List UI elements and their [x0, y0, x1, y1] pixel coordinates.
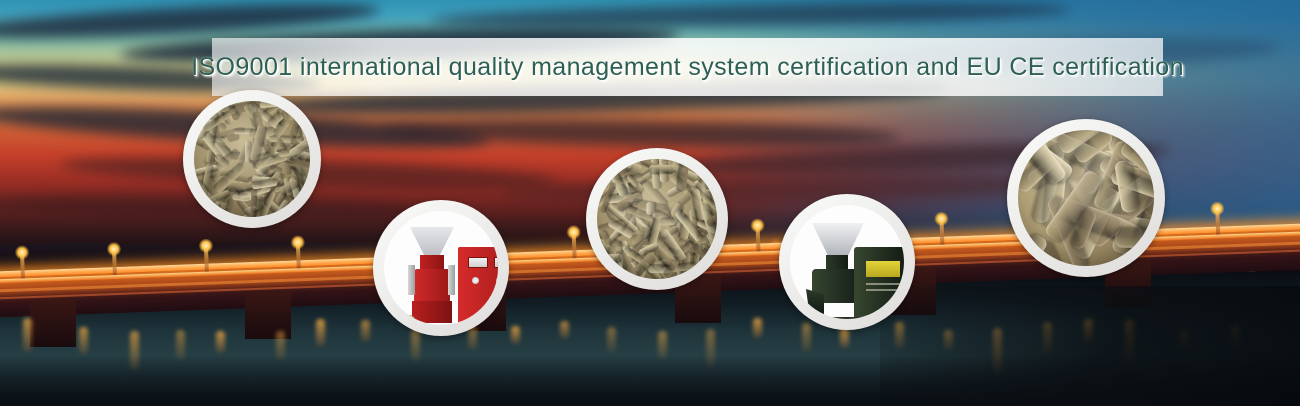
vent-slot	[866, 283, 900, 285]
light-reflection	[607, 327, 616, 352]
bridge-lamp-icon	[572, 232, 577, 258]
warning-label	[866, 261, 900, 277]
machine-leg	[408, 265, 415, 295]
light-reflection	[361, 320, 370, 342]
red-pellet-mill-photo	[384, 211, 498, 325]
bubble-photo	[1018, 130, 1154, 266]
machine-base	[412, 301, 452, 323]
light-reflection	[511, 326, 520, 344]
green-pellet-mill-photo	[790, 205, 904, 319]
machine-leg	[448, 265, 455, 295]
light-reflection	[753, 318, 762, 338]
light-reflection	[23, 318, 32, 352]
bridge-lamp-icon	[112, 249, 117, 275]
control-knob	[472, 277, 479, 284]
bridge-lamp-icon	[20, 252, 25, 278]
light-reflection	[802, 323, 811, 352]
hopper-funnel	[410, 227, 454, 257]
bridge-lamp-icon	[939, 219, 944, 245]
bubble-photo	[597, 159, 717, 279]
bubble-green-pellet-mill[interactable]	[779, 194, 915, 330]
bubble-wood-pellets-right[interactable]	[1007, 119, 1165, 277]
bridge-pier	[30, 299, 76, 347]
pellet-vignette	[1018, 130, 1154, 266]
bubble-red-pellet-mill[interactable]	[373, 200, 509, 336]
scale-reference-coin	[402, 315, 416, 325]
bubble-wood-pellets-left[interactable]	[183, 90, 321, 228]
bridge-lamp-icon	[1215, 209, 1220, 235]
headline-band: ISO9001 international quality management…	[212, 38, 1163, 96]
pellet-vignette	[194, 101, 310, 217]
control-knob	[496, 277, 498, 284]
control-display	[494, 257, 498, 268]
wood-pellet	[598, 159, 623, 166]
light-reflection	[216, 331, 225, 353]
light-reflection	[79, 327, 88, 355]
wood-pellet	[597, 262, 606, 278]
light-reflection	[658, 331, 667, 359]
bridge-lamp-icon	[296, 242, 301, 268]
vent-slot	[866, 289, 900, 291]
promo-banner: ISO9001 international quality management…	[0, 0, 1300, 406]
light-reflection	[560, 321, 569, 339]
bubble-wood-pellets-center[interactable]	[586, 148, 728, 290]
pellet-vignette	[597, 159, 717, 279]
bridge-lamp-icon	[204, 246, 209, 272]
bubble-photo	[194, 101, 310, 217]
light-reflection	[840, 328, 849, 348]
machine-frame	[808, 317, 904, 319]
light-reflection	[316, 319, 325, 347]
bridge-lamp-icon	[756, 225, 761, 251]
control-display	[468, 257, 488, 268]
pellet-press-head	[414, 269, 450, 303]
foreground-bank	[880, 286, 1300, 406]
bubble-photo	[790, 205, 904, 319]
headline-text: ISO9001 international quality management…	[191, 53, 1184, 82]
bubble-photo	[384, 211, 498, 325]
